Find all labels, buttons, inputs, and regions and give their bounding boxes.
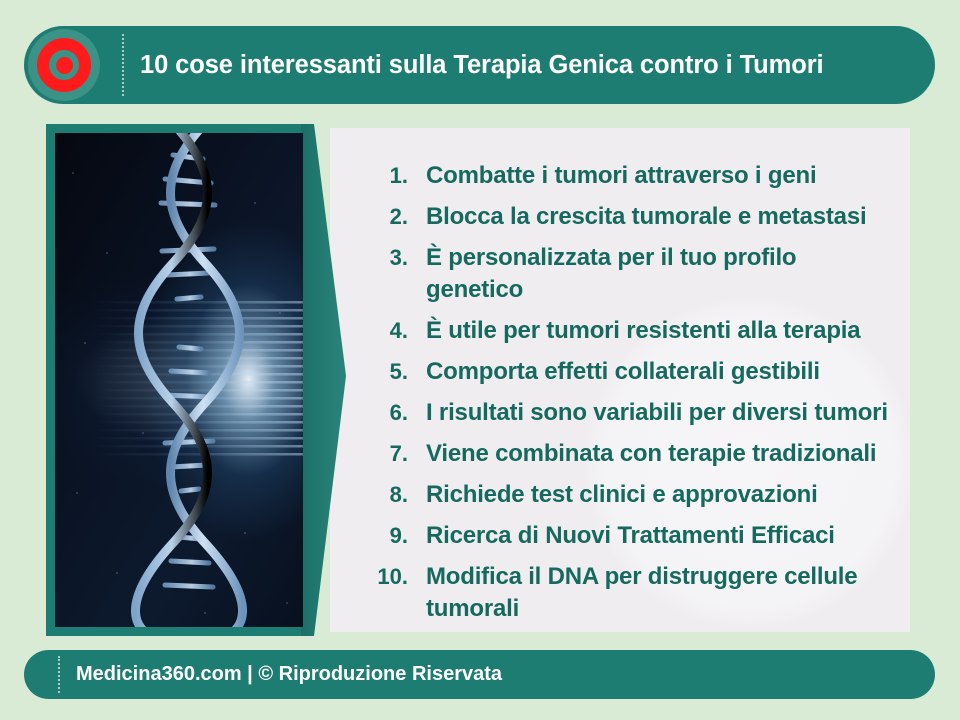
list-item-text: È utile per tumori resistenti alla terap… [426, 315, 860, 347]
bullseye-middle-ring [49, 50, 79, 80]
list-item-text: Blocca la crescita tumorale e metastasi [426, 201, 866, 233]
list-item-number: 6. [360, 397, 426, 429]
bullseye-outer-ring [37, 38, 91, 92]
list-item-text: Comporta effetti collaterali gestibili [426, 356, 820, 388]
list-item-text: Combatte i tumori attraverso i geni [426, 160, 816, 192]
list-item: 6. I risultati sono variabili per divers… [360, 397, 920, 429]
list-item-text: Richiede test clinici e approvazioni [426, 479, 818, 511]
list-item: 4. È utile per tumori resistenti alla te… [360, 315, 920, 347]
dna-double-helix-photo [55, 133, 303, 627]
list-item-number: 5. [360, 356, 426, 388]
image-frame [46, 124, 346, 636]
dna-helix-icon [55, 133, 303, 627]
footer-dotted-divider [58, 656, 60, 693]
list-item: 5. Comporta effetti collaterali gestibil… [360, 356, 920, 388]
list-item-number: 1. [360, 160, 426, 192]
header-bar: 10 cose interessanti sulla Terapia Genic… [24, 26, 935, 104]
list-item-number: 10. [360, 561, 426, 593]
list-item-text: Modifica il DNA per distruggere cellule … [426, 561, 896, 625]
list-item: 1. Combatte i tumori attraverso i geni [360, 160, 920, 192]
list-item: 8. Richiede test clinici e approvazioni [360, 479, 920, 511]
list-item: 3. È personalizzata per il tuo profilo g… [360, 242, 920, 306]
facts-list: 1. Combatte i tumori attraverso i geni 2… [360, 160, 920, 634]
infographic-canvas: 10 cose interessanti sulla Terapia Genic… [0, 0, 960, 720]
header-dotted-divider [122, 34, 124, 96]
list-item: 9. Ricerca di Nuovi Trattamenti Efficaci [360, 520, 920, 552]
list-item: 7. Viene combinata con terapie tradizion… [360, 438, 920, 470]
bullseye-target-icon [28, 29, 100, 101]
list-item-number: 7. [360, 438, 426, 470]
list-item-number: 2. [360, 201, 426, 233]
list-item-number: 9. [360, 520, 426, 552]
list-item: 2. Blocca la crescita tumorale e metasta… [360, 201, 920, 233]
footer-bar: Medicina360.com | © Riproduzione Riserva… [24, 650, 935, 699]
list-item-text: I risultati sono variabili per diversi t… [426, 397, 888, 429]
list-item-number: 8. [360, 479, 426, 511]
bullseye-center-dot [56, 57, 73, 74]
list-item: 10. Modifica il DNA per distruggere cell… [360, 561, 920, 625]
list-item-number: 4. [360, 315, 426, 347]
list-item-text: Viene combinata con terapie tradizionali [426, 438, 876, 470]
footer-credit-text: Medicina360.com | © Riproduzione Riserva… [76, 650, 502, 699]
list-item-text: È personalizzata per il tuo profilo gene… [426, 242, 896, 306]
list-item-number: 3. [360, 242, 426, 274]
page-title: 10 cose interessanti sulla Terapia Genic… [140, 26, 824, 104]
list-item-text: Ricerca di Nuovi Trattamenti Efficaci [426, 520, 835, 552]
